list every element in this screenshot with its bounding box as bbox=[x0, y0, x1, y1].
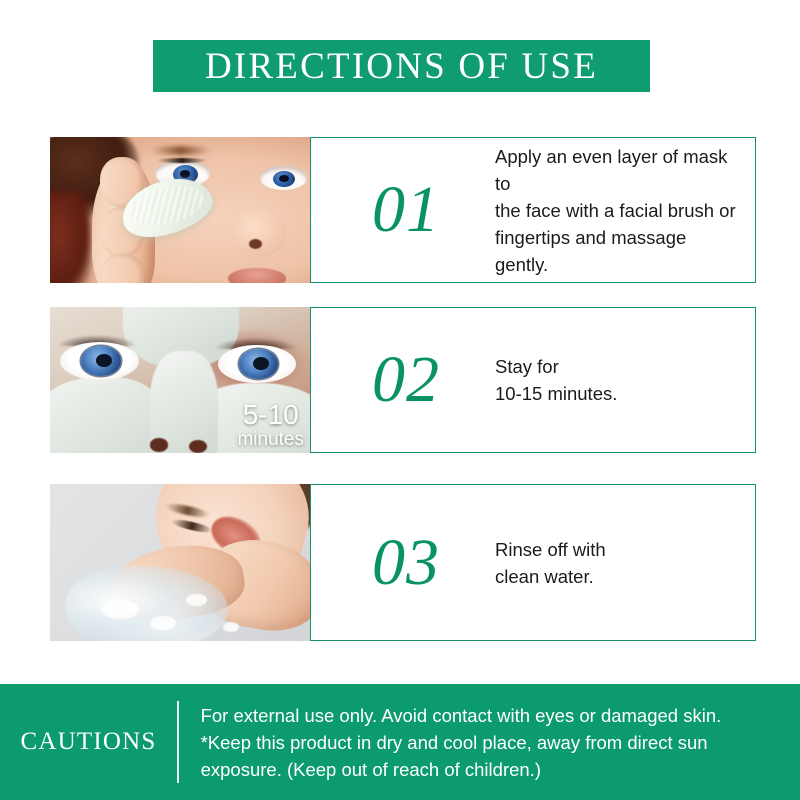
duration-overlay: 5-10 minutes bbox=[237, 401, 304, 449]
step-text-box: 01 Apply an even layer of mask to the fa… bbox=[310, 137, 756, 283]
step-row: 03 Rinse off with clean water. bbox=[50, 484, 756, 641]
step-description: Stay for 10-15 minutes. bbox=[495, 353, 631, 407]
lip-shape bbox=[228, 268, 286, 283]
step-description: Apply an even layer of mask to the face … bbox=[495, 143, 755, 278]
nostril-right bbox=[189, 440, 207, 453]
cautions-label: CAUTIONS bbox=[0, 728, 177, 756]
page-title: DIRECTIONS OF USE bbox=[205, 48, 598, 85]
duration-overlay-unit: minutes bbox=[237, 430, 304, 449]
water-droplet bbox=[102, 600, 139, 619]
pupil-left bbox=[96, 354, 112, 367]
step-row: 5-10 minutes 02 Stay for 10-15 minutes. bbox=[50, 307, 756, 453]
pupil-right bbox=[253, 357, 269, 370]
step-photo-mask-on-face: 5-10 minutes bbox=[50, 307, 312, 453]
step-row: 01 Apply an even layer of mask to the fa… bbox=[50, 137, 756, 283]
step-photo-apply-cream bbox=[50, 137, 312, 283]
water-droplet bbox=[223, 622, 239, 631]
step-number: 02 bbox=[331, 347, 481, 413]
nostril-left bbox=[150, 438, 168, 451]
step-number: 01 bbox=[331, 177, 481, 243]
nose-shape bbox=[233, 207, 285, 257]
water-droplet bbox=[150, 616, 176, 630]
step-photo-rinse-water bbox=[50, 484, 312, 641]
duration-overlay-range: 5-10 bbox=[237, 401, 304, 430]
eyebrow-shape bbox=[150, 146, 213, 155]
step-description: Rinse off with clean water. bbox=[495, 536, 620, 590]
finger-shape bbox=[100, 254, 145, 283]
step-number: 03 bbox=[331, 530, 481, 596]
cautions-divider bbox=[177, 701, 179, 783]
cautions-text: For external use only. Avoid contact wit… bbox=[201, 702, 738, 783]
step-text-box: 03 Rinse off with clean water. bbox=[310, 484, 756, 641]
cautions-band: CAUTIONS For external use only. Avoid co… bbox=[0, 684, 800, 800]
step-text-box: 02 Stay for 10-15 minutes. bbox=[310, 307, 756, 453]
hair-shape-secondary bbox=[50, 192, 92, 283]
pupil-right bbox=[279, 175, 288, 182]
clay-mask-left-cheek bbox=[50, 377, 165, 453]
header-banner: DIRECTIONS OF USE bbox=[153, 40, 650, 92]
